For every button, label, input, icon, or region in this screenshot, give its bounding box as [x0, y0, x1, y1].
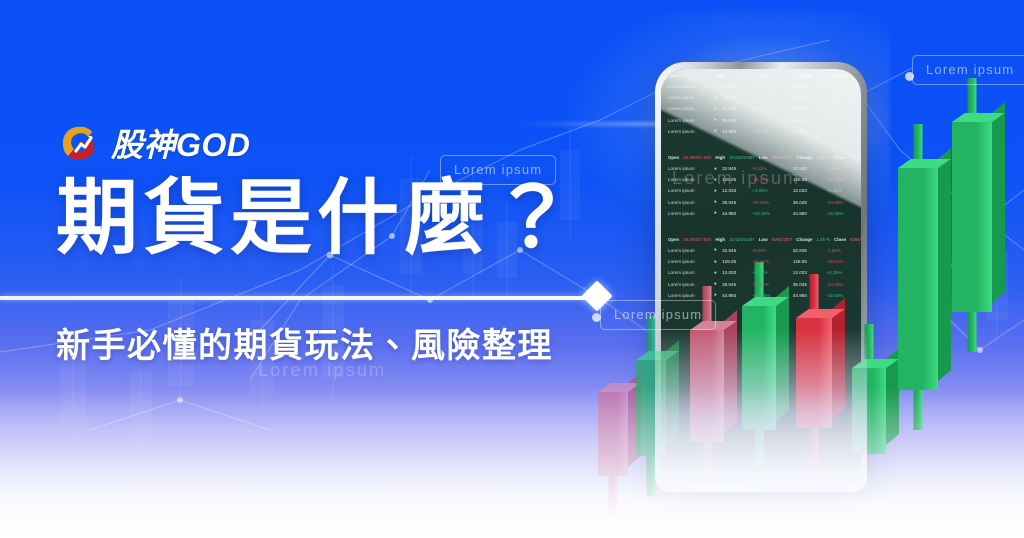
row-change-value: -5.83%	[752, 84, 789, 89]
row-open-value: 36.045	[722, 200, 748, 205]
column-header-open: Open	[668, 73, 679, 78]
row-name: Lorem ipsum	[668, 259, 709, 264]
column-header-value: 30.000/27.550	[683, 73, 711, 78]
row-change-value: +4.86%	[752, 270, 789, 275]
table-row[interactable]: Lorem ipsum●125.05-15.41%125.05-18.01%	[668, 92, 854, 103]
row-status-icon: ●	[713, 292, 719, 298]
row-status-icon: ●	[713, 199, 719, 205]
row-status-icon: ●	[713, 128, 719, 134]
row-percent-value: -1.62%	[826, 166, 854, 171]
row-open-value: 32.845	[722, 84, 748, 89]
table-row[interactable]: Lorem ipsum●36.045-20.25%36.045-20.05%	[668, 115, 854, 126]
row-open-value: 32.845	[722, 248, 748, 253]
row-close-value: 12.033	[793, 188, 823, 193]
market-table: Open30.000/27.550High10.624/4.507Low8090…	[661, 151, 861, 219]
column-header-high: High	[715, 237, 725, 242]
market-table: Open30.000/27.550High10.624/4.507Low8090…	[661, 69, 861, 137]
brand-name: 股神GOD	[111, 120, 250, 166]
row-close-value: 44.950	[793, 293, 823, 298]
row-status-icon: ●	[713, 281, 719, 287]
table-row[interactable]: Lorem ipsum●44.950+10.45%44.950-15.65%	[668, 126, 854, 137]
row-open-value: 36.045	[722, 118, 748, 123]
row-open-value: 12.033	[722, 106, 748, 111]
row-percent-value: -1.62%	[826, 84, 854, 89]
row-status-icon: ●	[713, 106, 719, 112]
row-name: Lorem ipsum	[668, 118, 709, 123]
row-percent-value: -18.01%	[826, 95, 854, 100]
table-row[interactable]: Lorem ipsum●125.05-15.41%125.05-18.01%	[668, 174, 854, 185]
row-open-value: 125.05	[722, 259, 748, 264]
row-percent-value: -20.05%	[826, 200, 854, 205]
row-name: Lorem ipsum	[668, 282, 709, 287]
table-row[interactable]: Lorem ipsum●12.033+4.86%12.033+6.35%	[668, 103, 854, 114]
row-open-value: 44.950	[722, 293, 748, 298]
lorem-tag: Lorem ipsum	[600, 300, 716, 330]
row-status-icon: ●	[713, 177, 719, 183]
market-table: Open30.000/27.550High10.624/4.507Low8090…	[661, 233, 861, 301]
row-status-icon: ●	[713, 259, 719, 265]
table-row[interactable]: Lorem ipsum●44.950+10.45%44.950-15.65%	[668, 290, 854, 301]
row-change-value: -20.25%	[752, 200, 789, 205]
column-header-value: 1.45 %	[816, 155, 830, 160]
column-header-value: 8090/4307	[772, 73, 793, 78]
row-close-value: 44.950	[793, 211, 823, 216]
row-close-value: 36.045	[793, 200, 823, 205]
column-header-change: Change	[796, 155, 812, 160]
row-open-value: 44.950	[722, 129, 748, 134]
column-header-value: 8090/4307	[772, 155, 793, 160]
column-header-open: Open	[668, 155, 679, 160]
row-status-icon: ●	[713, 210, 719, 216]
row-close-value: 125.05	[793, 259, 823, 264]
table-row[interactable]: Lorem ipsum●32.845-5.83%32.845-1.62%	[668, 163, 854, 174]
column-header-value: 30.000/27.550	[683, 237, 711, 242]
row-change-value: +4.86%	[752, 188, 789, 193]
column-header-change: Change	[796, 237, 812, 242]
table-row[interactable]: Lorem ipsum●32.845-5.83%32.845-1.62%	[668, 81, 854, 92]
column-header-value: 1.45 %	[816, 73, 830, 78]
row-open-value: 12.033	[722, 270, 748, 275]
row-percent-value: -20.05%	[826, 118, 854, 123]
row-change-value: +10.45%	[752, 211, 789, 216]
column-header-value: 8090/4307	[772, 237, 793, 242]
row-close-value: 44.950	[793, 129, 823, 134]
row-close-value: 125.05	[793, 177, 823, 182]
table-row[interactable]: Lorem ipsum●12.033+4.86%12.033+6.35%	[668, 267, 854, 278]
row-percent-value: -20.05%	[826, 282, 854, 287]
lorem-tag: Lorem ipsum	[912, 55, 1024, 85]
phone-mockup: Open30.000/27.550High10.624/4.507Low8090…	[655, 62, 867, 492]
market-table-header: Open30.000/27.550High10.624/4.507Low8090…	[668, 73, 854, 81]
row-close-value: 32.845	[793, 166, 823, 171]
column-header-value: 10.624/4.507	[729, 73, 755, 78]
row-name: Lorem ipsum	[668, 129, 709, 134]
table-row[interactable]: Lorem ipsum●12.033+4.86%12.033+6.35%	[668, 185, 854, 196]
row-status-icon: ●	[713, 117, 719, 123]
column-header-value: 5086/4807	[850, 237, 861, 242]
row-name: Lorem ipsum	[668, 293, 709, 298]
phone-screen: Open30.000/27.550High10.624/4.507Low8090…	[661, 69, 861, 485]
row-open-value: 32.845	[722, 166, 748, 171]
column-header-change: Change	[796, 73, 812, 78]
row-name: Lorem ipsum	[668, 177, 709, 182]
row-close-value: 32.845	[793, 248, 823, 253]
market-table-header: Open30.000/27.550High10.624/4.507Low8090…	[668, 155, 854, 163]
row-status-icon: ●	[713, 247, 719, 253]
page-title: 期貨是什麼？	[56, 178, 578, 260]
column-header-value: 5086/4807	[850, 155, 861, 160]
column-header-low: Low	[759, 155, 768, 160]
column-header-value: 10.624/4.507	[729, 155, 755, 160]
row-percent-value: -15.65%	[826, 293, 854, 298]
row-close-value: 32.845	[793, 84, 823, 89]
column-header-open: Open	[668, 237, 679, 242]
column-header-high: High	[715, 155, 725, 160]
table-row[interactable]: Lorem ipsum●125.05-15.41%125.05-18.01%	[668, 256, 854, 267]
node-dot	[592, 313, 601, 322]
row-percent-value: -1.62%	[826, 248, 854, 253]
row-percent-value: -18.01%	[826, 259, 854, 264]
row-close-value: 36.045	[793, 282, 823, 287]
row-open-value: 12.033	[722, 188, 748, 193]
row-name: Lorem ipsum	[668, 248, 709, 253]
row-change-value: +10.45%	[752, 293, 789, 298]
row-change-value: +4.86%	[752, 106, 789, 111]
row-status-icon: ●	[713, 166, 719, 172]
row-status-icon: ●	[713, 188, 719, 194]
column-header-low: Low	[759, 237, 768, 242]
row-change-value: -20.25%	[752, 282, 789, 287]
row-change-value: -5.83%	[752, 166, 789, 171]
column-header-close: Close	[834, 73, 846, 78]
row-close-value: 36.045	[793, 118, 823, 123]
page-subtitle: 新手必懂的期貨玩法、風險整理	[56, 318, 553, 367]
table-row[interactable]: Lorem ipsum●44.950+10.45%44.950-15.65%	[668, 208, 854, 219]
row-name: Lorem ipsum	[668, 84, 709, 89]
row-percent-value: +6.35%	[826, 106, 854, 111]
row-percent-value: -15.65%	[826, 211, 854, 216]
column-header-value: 10.624/4.507	[729, 237, 755, 242]
trading-app-tables: Open30.000/27.550High10.624/4.507Low8090…	[661, 69, 861, 301]
row-name: Lorem ipsum	[668, 211, 709, 216]
row-close-value: 125.05	[793, 95, 823, 100]
row-open-value: 36.045	[722, 282, 748, 287]
row-status-icon: ●	[713, 84, 719, 90]
row-name: Lorem ipsum	[668, 166, 709, 171]
table-row[interactable]: Lorem ipsum●36.045-20.25%36.045-20.05%	[668, 278, 854, 289]
row-change-value: -20.25%	[752, 118, 789, 123]
row-open-value: 44.950	[722, 211, 748, 216]
row-name: Lorem ipsum	[668, 188, 709, 193]
row-open-value: 125.05	[722, 95, 748, 100]
brand-logo[interactable]: 股神GOD	[58, 120, 250, 166]
row-status-icon: ●	[713, 95, 719, 101]
row-close-value: 12.033	[793, 270, 823, 275]
row-change-value: +10.45%	[752, 129, 789, 134]
row-change-value: -15.41%	[752, 95, 789, 100]
row-name: Lorem ipsum	[668, 106, 709, 111]
row-percent-value: +6.35%	[826, 188, 854, 193]
stock-chart-g-logo-icon	[58, 121, 102, 165]
row-name: Lorem ipsum	[668, 270, 709, 275]
row-status-icon: ●	[713, 270, 719, 276]
row-percent-value: -18.01%	[826, 177, 854, 182]
title-divider	[0, 296, 598, 300]
row-open-value: 125.05	[722, 177, 748, 182]
row-percent-value: +6.35%	[826, 270, 854, 275]
column-header-value: 1.45 %	[816, 237, 830, 242]
row-close-value: 12.033	[793, 106, 823, 111]
row-name: Lorem ipsum	[668, 95, 709, 100]
node-dot	[905, 72, 914, 81]
promo-banner: Open30.000/27.550High10.624/4.507Low8090…	[0, 0, 1024, 538]
column-header-value: 30.000/27.550	[683, 155, 711, 160]
column-header-close: Close	[834, 237, 846, 242]
column-header-close: Close	[834, 155, 846, 160]
column-header-low: Low	[759, 73, 768, 78]
row-change-value: -5.83%	[752, 248, 789, 253]
column-header-high: High	[715, 73, 725, 78]
row-change-value: -15.41%	[752, 177, 789, 182]
row-change-value: -15.41%	[752, 259, 789, 264]
row-name: Lorem ipsum	[668, 200, 709, 205]
row-percent-value: -15.65%	[826, 129, 854, 134]
column-header-value: 5086/4807	[850, 73, 861, 78]
table-row[interactable]: Lorem ipsum●32.845-5.83%32.845-1.62%	[668, 245, 854, 256]
table-row[interactable]: Lorem ipsum●36.045-20.25%36.045-20.05%	[668, 197, 854, 208]
market-table-header: Open30.000/27.550High10.624/4.507Low8090…	[668, 237, 854, 245]
